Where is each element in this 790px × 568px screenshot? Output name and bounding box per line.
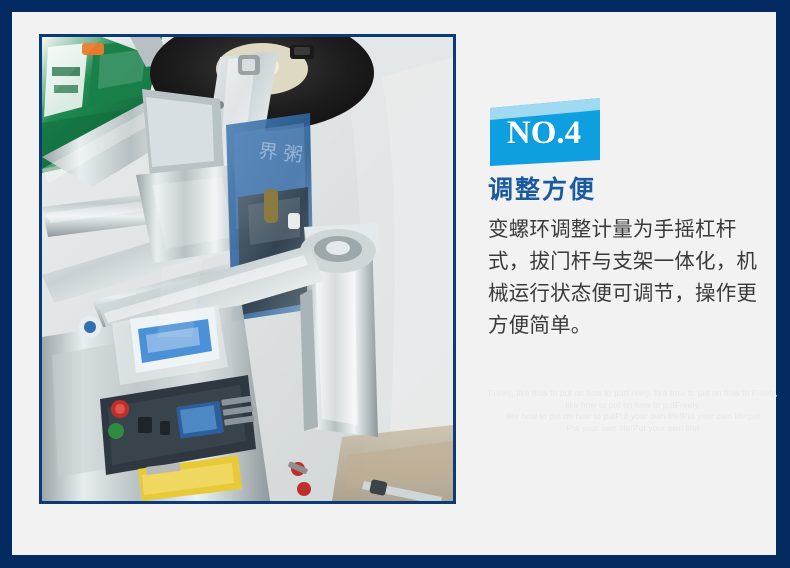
feature-description: 变螺环调整计量为手摇杠杆式，拔门杆与支架一体化，机械运行状态便可调节，操作更方便… bbox=[488, 214, 770, 342]
frame-border-top bbox=[0, 0, 790, 12]
product-photo-frame: 界 粥 bbox=[39, 34, 456, 504]
feature-text-column: NO.4 调整方便 变螺环调整计量为手摇杠杆式，拔门杆与支架一体化，机械运行状态… bbox=[488, 12, 778, 434]
filler-line-2: like how to put on how to putFreely, bbox=[488, 400, 778, 412]
product-feature-banner: 界 粥 bbox=[0, 0, 790, 568]
packaging-machine-photo: 界 粥 bbox=[42, 37, 453, 501]
feature-number-badge: NO.4 bbox=[488, 98, 610, 166]
frame-border-left bbox=[0, 0, 12, 568]
filler-line-1: Freely, like how to put on how to putFre… bbox=[488, 388, 778, 400]
decorative-filler-text: Freely, like how to put on how to putFre… bbox=[488, 388, 778, 434]
filler-line-4: Put your own life!Put your own life! bbox=[488, 423, 778, 435]
content-canvas: 界 粥 bbox=[12, 12, 776, 555]
filler-line-3: like how to put on how to putPut your ow… bbox=[488, 411, 778, 423]
frame-border-bottom bbox=[0, 555, 790, 568]
feature-heading: 调整方便 bbox=[488, 174, 778, 206]
frame-border-right bbox=[776, 0, 790, 568]
badge-label: NO.4 bbox=[488, 114, 600, 152]
svg-text:界 粥: 界 粥 bbox=[257, 140, 303, 166]
